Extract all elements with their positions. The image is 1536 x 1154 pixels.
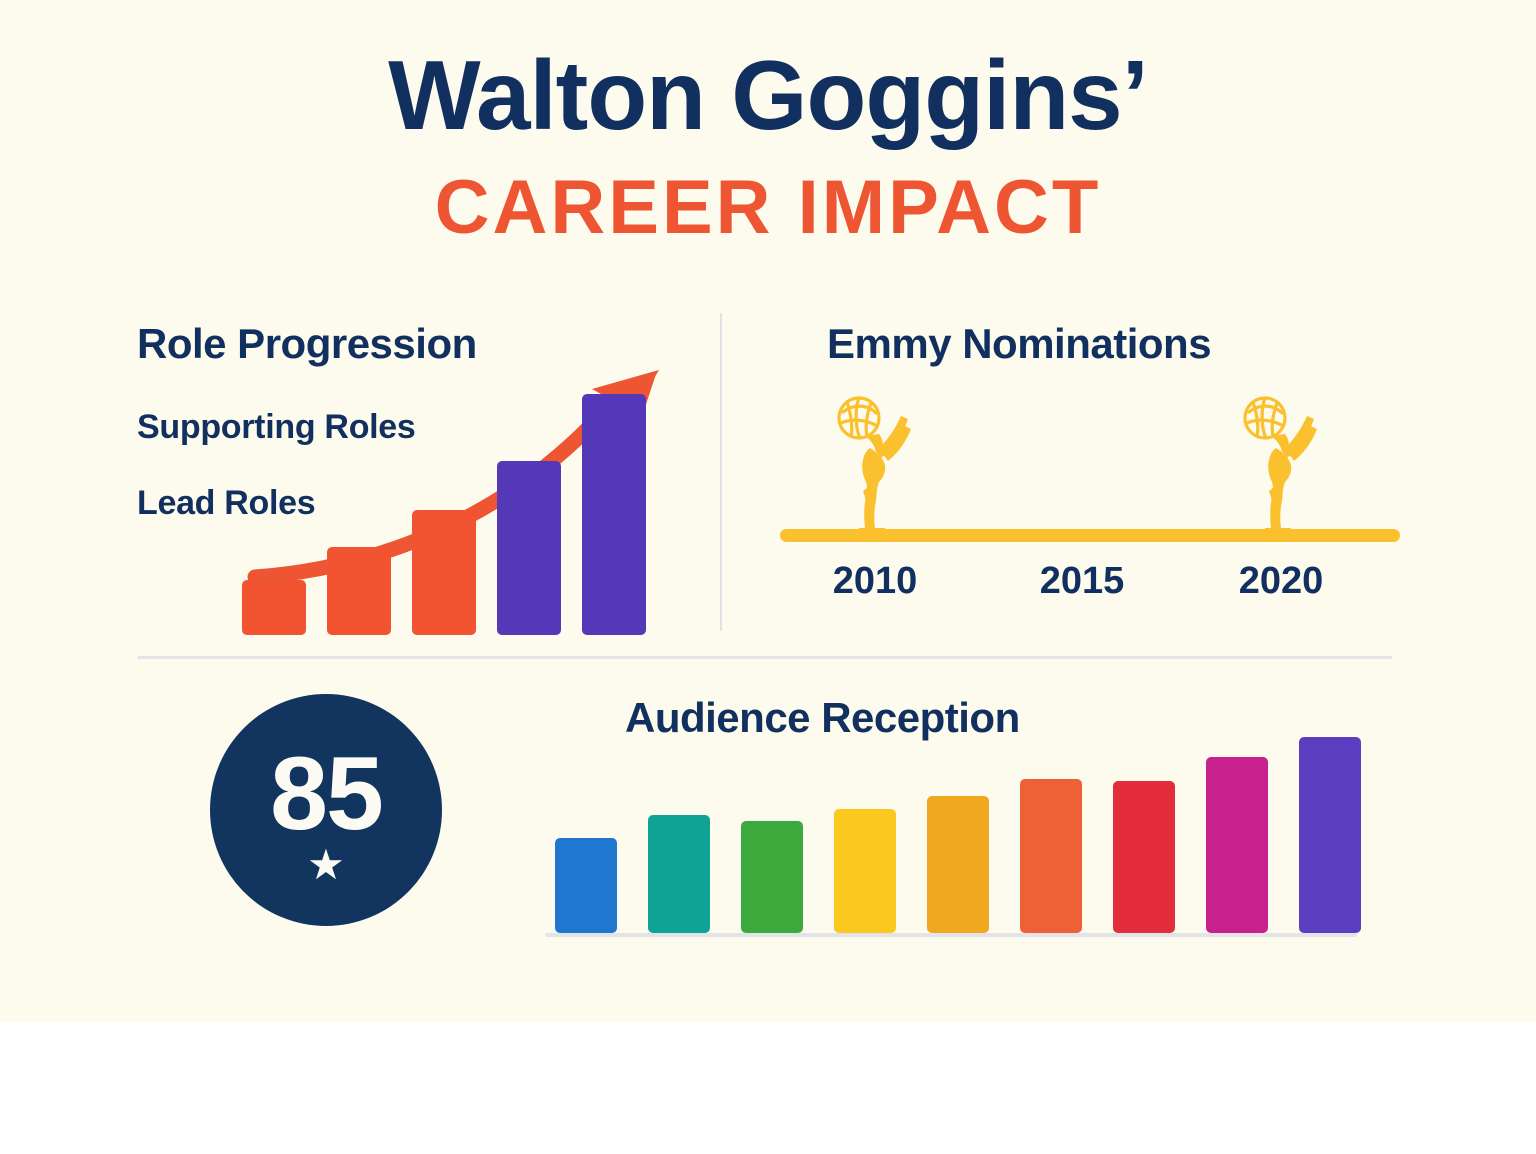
role-progression-bar: [497, 461, 561, 635]
role-progression-bar: [242, 580, 306, 635]
emmy-nominations-title: Emmy Nominations: [827, 320, 1211, 368]
role-progression-bar: [582, 394, 646, 635]
score-value: 85: [270, 748, 382, 842]
role-progression-chart: [137, 355, 697, 635]
audience-reception-bar: [1113, 781, 1175, 933]
audience-reception-bar: [741, 821, 803, 933]
role-progression-bar: [327, 547, 391, 635]
emmy-year-label: 2010: [805, 560, 945, 603]
audience-reception-bar: [1020, 779, 1082, 933]
page-title: Walton Goggins’: [0, 44, 1536, 147]
emmy-year-label: 2020: [1211, 560, 1351, 603]
vertical-divider: [720, 313, 722, 631]
emmy-nominations-chart: 201020152020: [760, 375, 1420, 620]
audience-chart-baseline: [545, 933, 1357, 937]
audience-reception-bar: [927, 796, 989, 933]
horizontal-divider: [137, 656, 1392, 659]
audience-reception-bar: [648, 815, 710, 933]
audience-reception-chart: [545, 735, 1357, 933]
infographic-canvas: Walton Goggins’ CAREER IMPACT Role Progr…: [0, 0, 1536, 1154]
emmy-year-label: 2015: [1012, 560, 1152, 603]
emmy-statuette-icon: [829, 392, 921, 534]
audience-score-badge: 85 ★: [210, 694, 442, 926]
emmy-statuette-icon: [1235, 392, 1327, 534]
page-subtitle: CAREER IMPACT: [0, 168, 1536, 248]
audience-reception-bar: [1299, 737, 1361, 933]
star-icon: ★: [307, 844, 345, 886]
role-progression-bar: [412, 510, 476, 635]
audience-reception-bar: [555, 838, 617, 933]
audience-reception-bar: [834, 809, 896, 933]
audience-reception-bar: [1206, 757, 1268, 933]
